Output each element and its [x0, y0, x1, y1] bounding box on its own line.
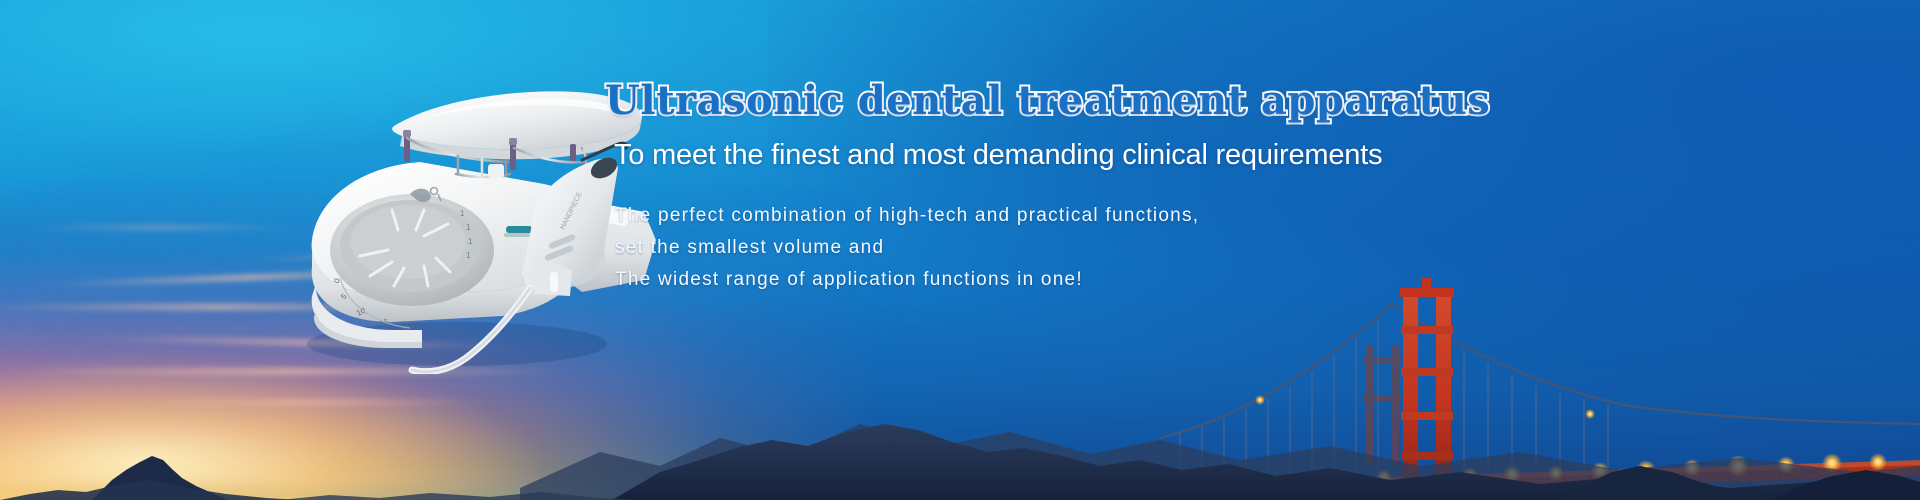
- body-line-1: The perfect combination of high-tech and…: [615, 200, 1605, 232]
- svg-text:1: 1: [468, 237, 473, 246]
- svg-text:1: 1: [466, 251, 471, 260]
- banner-subheadline: To meet the finest and most demanding cl…: [605, 138, 1605, 173]
- indicator-strip: [506, 226, 532, 233]
- rack-holder-block: [488, 164, 504, 178]
- svg-text:1: 1: [460, 209, 465, 218]
- control-dial-inner: [350, 205, 466, 279]
- product-hero-banner: 0 5 10 15 20 1 1 1 1: [0, 0, 1920, 500]
- banner-copy: Ultrasonic dental treatment apparatus To…: [605, 80, 1605, 296]
- body-line-3: The widest range of application function…: [615, 264, 1605, 296]
- hill-left-ridge: [0, 480, 300, 500]
- indicator-strip-2: [504, 233, 532, 237]
- banner-headline: Ultrasonic dental treatment apparatus: [605, 80, 1605, 122]
- svg-text:1: 1: [466, 223, 471, 232]
- banner-body-text: The perfect combination of high-tech and…: [605, 200, 1605, 296]
- body-line-2: set the smallest volume and: [615, 232, 1605, 264]
